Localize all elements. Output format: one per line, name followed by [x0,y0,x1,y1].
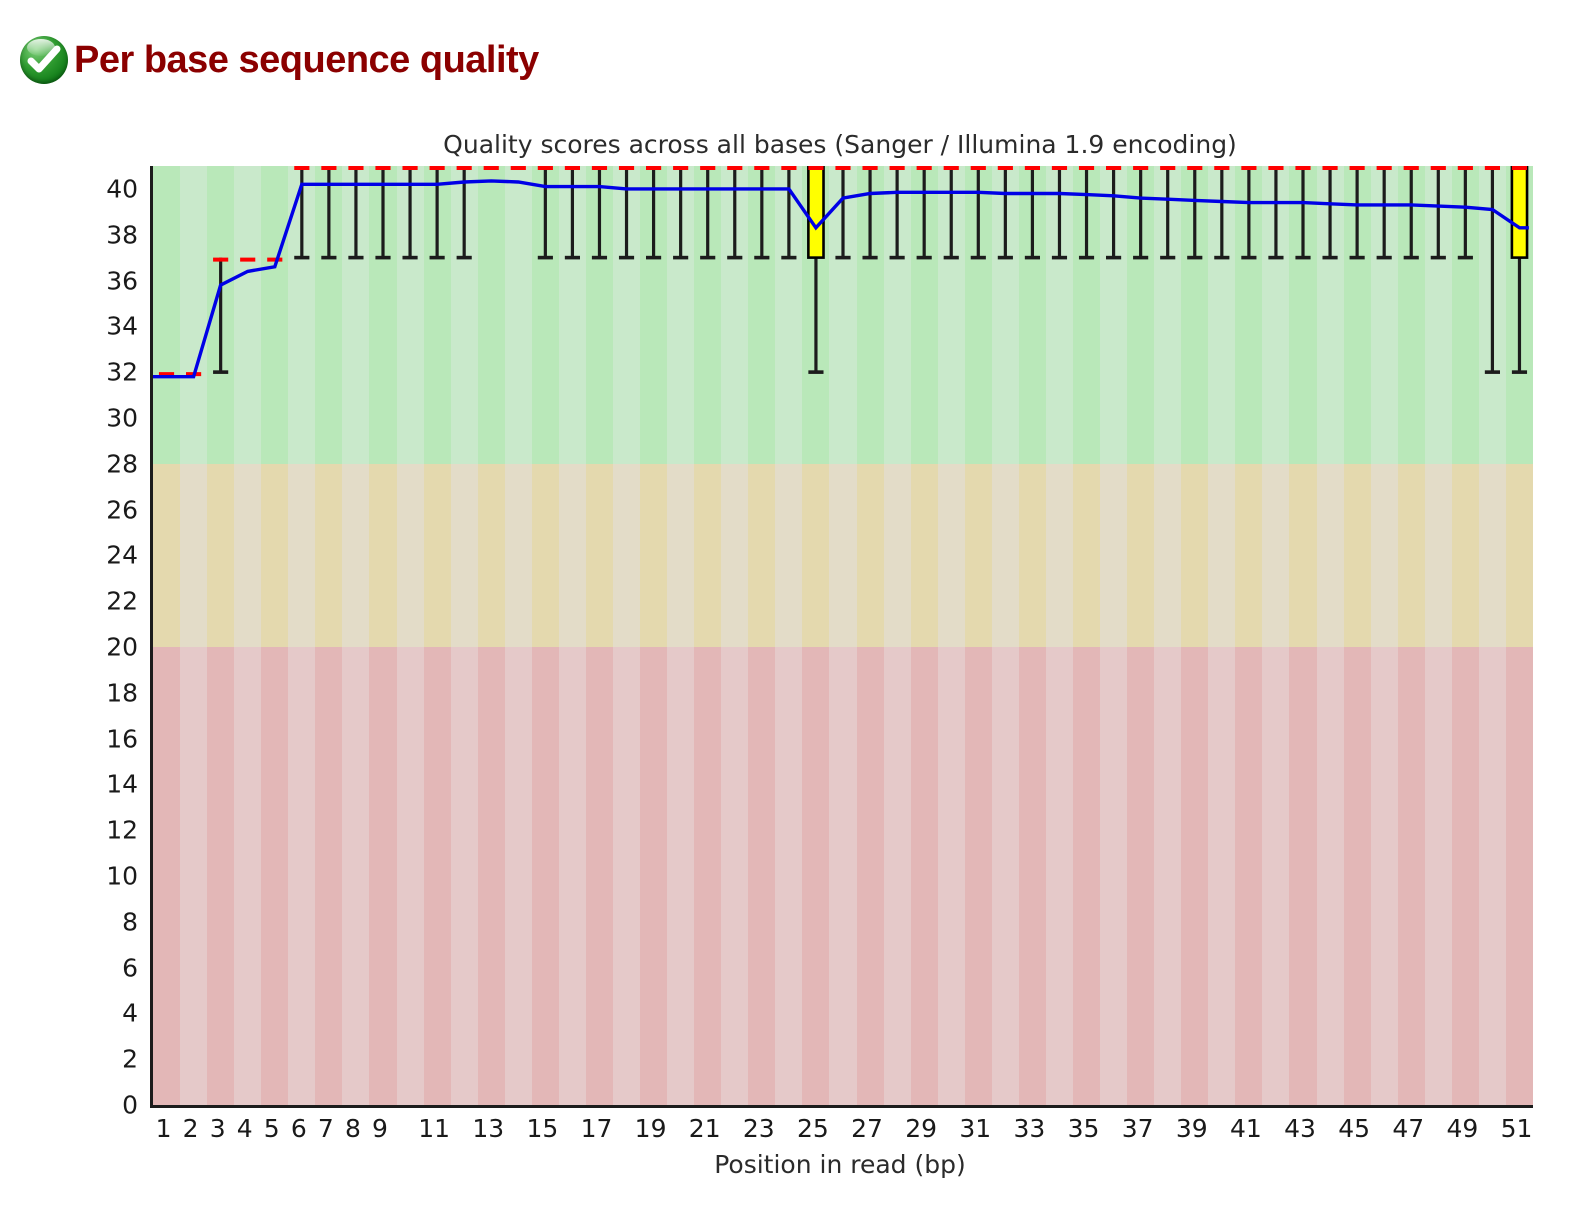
y-tick-label: 22 [18,587,138,616]
page-title: Per base sequence quality [74,39,539,82]
x-axis-title: Position in read (bp) [150,1150,1530,1179]
x-tick-label: 37 [1108,1114,1168,1143]
quartile-box [808,166,823,258]
y-tick-label: 4 [18,999,138,1028]
x-tick-label: 13 [458,1114,518,1143]
mean-quality-line [153,181,1529,377]
plot-area [150,166,1533,1108]
x-tick-label: 35 [1054,1114,1114,1143]
y-tick-label: 40 [18,174,138,203]
y-tick-label: 32 [18,358,138,387]
x-tick-label: 39 [1162,1114,1222,1143]
x-tick-label: 27 [837,1114,897,1143]
x-tick-label: 51 [1486,1114,1546,1143]
x-tick-label: 29 [891,1114,951,1143]
check-glyph [18,34,70,86]
y-tick-label: 10 [18,861,138,890]
chart-title: Quality scores across all bases (Sanger … [150,130,1530,159]
x-tick-label: 9 [350,1114,410,1143]
x-tick-label: 19 [621,1114,681,1143]
y-tick-label: 34 [18,312,138,341]
y-tick-label: 2 [18,1045,138,1074]
x-tick-label: 25 [783,1114,843,1143]
x-tick-label: 15 [512,1114,572,1143]
x-tick-label: 17 [566,1114,626,1143]
x-tick-label: 41 [1216,1114,1276,1143]
y-tick-label: 14 [18,770,138,799]
x-tick-label: 33 [999,1114,1059,1143]
y-tick-label: 8 [18,907,138,936]
boxplot-layer [153,166,1533,1105]
x-tick-label: 21 [675,1114,735,1143]
y-tick-label: 16 [18,724,138,753]
y-tick-label: 36 [18,266,138,295]
y-tick-label: 12 [18,816,138,845]
y-tick-label: 24 [18,541,138,570]
quartile-box [1512,166,1527,258]
x-tick-label: 11 [404,1114,464,1143]
y-tick-label: 26 [18,495,138,524]
y-tick-label: 20 [18,632,138,661]
y-tick-label: 30 [18,403,138,432]
x-tick-label: 23 [729,1114,789,1143]
x-tick-label: 31 [945,1114,1005,1143]
x-tick-label: 47 [1378,1114,1438,1143]
y-tick-label: 38 [18,220,138,249]
green-check-icon [18,34,70,86]
y-tick-label: 18 [18,678,138,707]
y-tick-label: 6 [18,953,138,982]
y-tick-label: 28 [18,449,138,478]
x-tick-label: 45 [1324,1114,1384,1143]
module-header: Per base sequence quality [18,30,539,90]
x-tick-label: 43 [1270,1114,1330,1143]
y-tick-label: 0 [18,1091,138,1120]
per-base-quality-chart: Quality scores across all bases (Sanger … [0,118,1584,1198]
x-tick-label: 49 [1432,1114,1492,1143]
plot-inner [153,166,1533,1105]
